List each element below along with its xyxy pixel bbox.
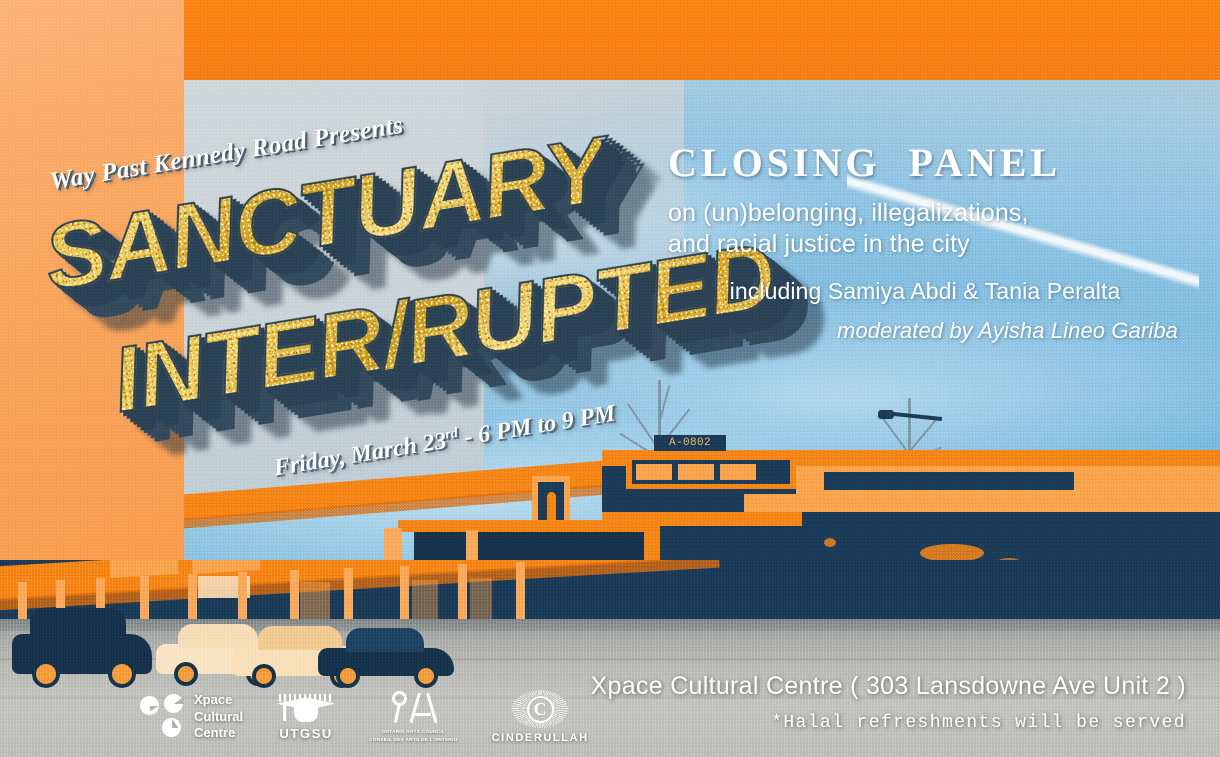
refreshments-note: *Halal refreshments will be served — [591, 713, 1186, 733]
xpace-name-line-1: Xpace — [194, 692, 243, 709]
oac-wordmark: ONTARIO ARTS COUNCIL CONSEIL DES ARTS DE… — [369, 728, 458, 742]
cap-cord — [283, 704, 286, 721]
logo-ontario-arts-council: ONTARIO ARTS COUNCIL CONSEIL DES ARTS DE… — [369, 691, 458, 742]
signboard-panel — [678, 464, 714, 480]
sunburst-c-icon: C — [512, 690, 568, 728]
xpace-name-line-3: Centre — [194, 725, 243, 742]
sponsor-logo-row: Xpace Cultural Centre UTGSU — [140, 687, 589, 747]
street-lamp-head — [878, 410, 894, 419]
arcade-column — [344, 568, 353, 626]
unit-sign-text: A-0802 — [654, 435, 726, 451]
cinder-ring: C — [527, 696, 554, 723]
graduation-cap-icon — [277, 694, 335, 724]
wall-paint-splatter — [824, 538, 836, 547]
mall-upper-window — [824, 472, 1074, 490]
venue-block: Xpace Cultural Centre ( 303 Lansdowne Av… — [591, 672, 1186, 733]
arcade-column — [516, 562, 525, 620]
oac-a-glyph — [410, 693, 434, 724]
oac-stem — [394, 703, 401, 723]
xpace-wordmark: Xpace Cultural Centre — [194, 692, 243, 742]
panel-speakers: including Samiya Abdi & Tania Peralta — [668, 278, 1188, 305]
car-suv-dark — [12, 606, 152, 688]
arcade-column — [400, 566, 409, 624]
signboard-panel — [720, 464, 756, 480]
cinder-monogram: C — [534, 700, 547, 718]
car-coupe-dark — [318, 628, 454, 690]
logo-cinderullah: C CINDERULLAH — [492, 690, 589, 744]
panel-subtitle-line-1: on (un)belonging, illegalizations, — [668, 198, 1188, 229]
pie-wedge-icon — [162, 718, 181, 737]
pie-wedge-icon — [140, 696, 159, 715]
event-poster: A-0802 Bell Bell Bell — [0, 0, 1220, 757]
cap-tassel-fringe — [279, 694, 333, 702]
pie-wedge-icon — [164, 694, 183, 713]
arcade-store-glow — [470, 578, 492, 622]
venue-address: Xpace Cultural Centre ( 303 Lansdowne Av… — [591, 672, 1186, 701]
panel-copy-block: CLOSING PANEL on (un)belonging, illegali… — [668, 142, 1188, 344]
panel-subtitle: on (un)belonging, illegalizations, and r… — [668, 198, 1188, 260]
panel-subtitle-line-2: and racial justice in the city — [668, 229, 1188, 260]
utgsu-wordmark: UTGSU — [279, 726, 333, 741]
xpace-name-line-2: Cultural — [194, 709, 243, 726]
title-lockup: Way Past Kennedy Road Presents SANCTUARY… — [24, 118, 664, 418]
mall-parapet — [744, 494, 1220, 512]
panel-moderator: moderated by Ayisha Lineo Gariba — [668, 318, 1188, 344]
logo-utgsu: UTGSU — [277, 694, 335, 741]
oac-name-en: ONTARIO ARTS COUNCIL — [369, 728, 458, 735]
oac-p-glyph — [392, 691, 410, 723]
storefront-header — [398, 520, 658, 532]
arcade-column — [458, 564, 467, 622]
panel-heading: CLOSING PANEL — [668, 142, 1188, 184]
xpace-pie-marks-icon — [140, 694, 186, 740]
signboard-panel — [636, 464, 672, 480]
cinderullah-wordmark: CINDERULLAH — [492, 732, 589, 744]
logo-xpace: Xpace Cultural Centre — [140, 692, 243, 742]
oac-name-fr: CONSEIL DES ARTS DE L'ONTARIO — [369, 736, 458, 743]
oac-monogram-icon — [391, 691, 435, 725]
